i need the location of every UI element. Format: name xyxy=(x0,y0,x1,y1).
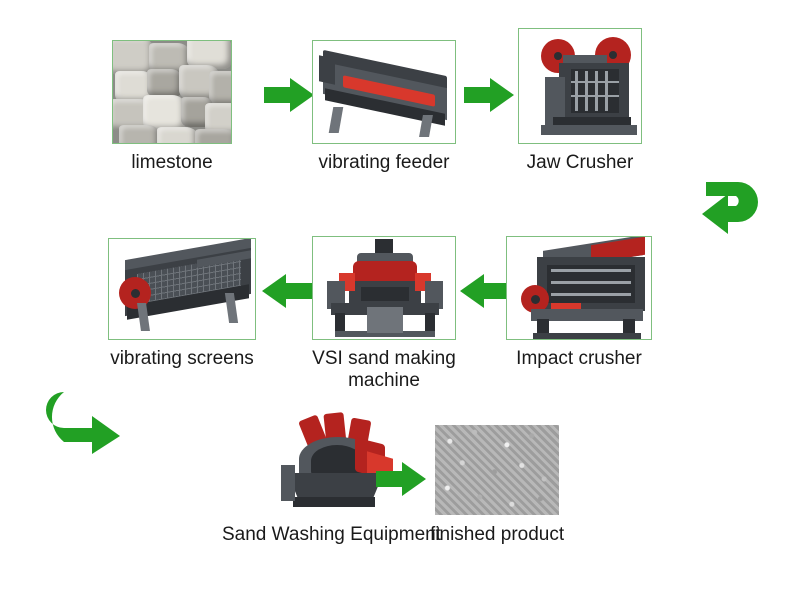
node-jaw-crusher: Jaw Crusher xyxy=(518,28,642,174)
rock-pile-image xyxy=(112,40,232,144)
node-label-jaw-crusher: Jaw Crusher xyxy=(527,152,634,174)
vsi-sand-maker-machine xyxy=(312,236,456,340)
arrow-u-turn-down-icon xyxy=(44,388,124,454)
node-label-finished-product: finished product xyxy=(430,524,564,546)
vibrating-feeder-machine xyxy=(312,40,456,144)
jaw-crusher-drawing xyxy=(519,29,641,143)
connector-feeder-to-jaw xyxy=(464,78,514,117)
node-vibrating-screens: vibrating screens xyxy=(108,238,256,370)
arrow-right-icon xyxy=(464,78,514,112)
jaw-crusher-machine xyxy=(518,28,642,144)
node-label-vsi-sand-maker: VSI sand making machine xyxy=(312,348,456,392)
connector-screens-to-washer xyxy=(44,388,124,459)
connector-washer-to-product xyxy=(376,462,426,501)
node-label-sand-washing-equipment: Sand Washing Equipment xyxy=(222,524,441,546)
rock-texture xyxy=(113,41,231,143)
node-label-vibrating-feeder: vibrating feeder xyxy=(319,152,450,174)
arrow-right-icon xyxy=(376,462,426,496)
node-impact-crusher: Impact crusher xyxy=(506,236,652,370)
process-flow-diagram: limestone vibrating feeder xyxy=(0,0,800,600)
gravel-texture xyxy=(435,425,559,515)
connector-vsi-to-screens xyxy=(262,274,312,313)
vibrating-screen-machine xyxy=(108,238,256,340)
feeder-drawing xyxy=(313,41,455,143)
vibrating-screen-drawing xyxy=(109,239,255,339)
arrow-right-icon xyxy=(264,78,314,112)
node-finished-product: finished product xyxy=(430,424,564,546)
connector-limestone-to-feeder xyxy=(264,78,314,117)
arrow-left-icon xyxy=(460,274,510,308)
impact-crusher-drawing xyxy=(507,237,651,339)
node-label-vibrating-screens: vibrating screens xyxy=(110,348,254,370)
arrow-left-icon xyxy=(262,274,312,308)
node-vsi-sand-maker: VSI sand making machine xyxy=(312,236,456,392)
impact-crusher-machine xyxy=(506,236,652,340)
vsi-drawing xyxy=(313,237,455,339)
node-limestone: limestone xyxy=(112,40,232,174)
connector-jaw-to-impact xyxy=(694,176,768,245)
node-label-limestone: limestone xyxy=(131,152,212,174)
finished-sand-image xyxy=(434,424,560,516)
connector-impact-to-vsi xyxy=(460,274,510,313)
arrow-u-turn-down-icon xyxy=(694,176,768,240)
node-vibrating-feeder: vibrating feeder xyxy=(312,40,456,174)
node-label-impact-crusher: Impact crusher xyxy=(516,348,642,370)
